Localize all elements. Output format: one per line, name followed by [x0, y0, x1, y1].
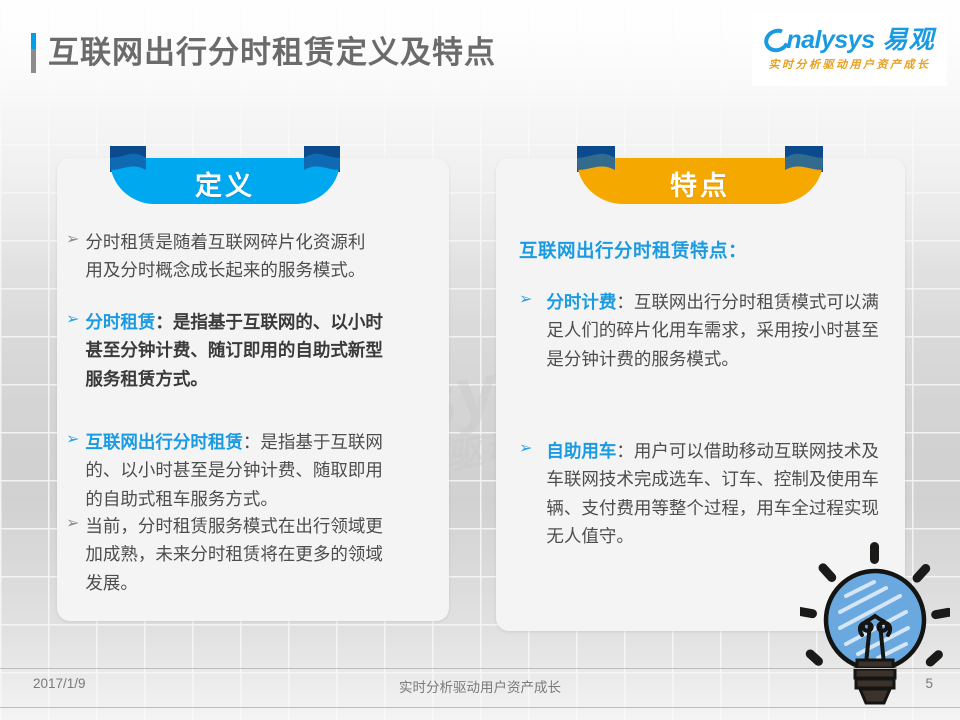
features-section-heading: 互联网出行分时租赁特点： — [519, 237, 747, 263]
features-banner-label: 特点 — [577, 146, 823, 212]
footer-page-number: 5 — [925, 676, 933, 691]
page-title: 互联网出行分时租赁定义及特点 — [48, 27, 496, 72]
definition-bullet-2-lead: 分时租赁 — [85, 312, 155, 332]
definition-bullet-4: ➢ 当前，分时租赁服务模式在出行领域更加成熟，未来分时租赁将在更多的领域发展。 — [66, 512, 396, 597]
features-bullet-2: ➢ 自助用车：用户可以借助移动互联网技术及车联网技术完成选车、订车、控制及使用车… — [519, 437, 889, 550]
footer-divider-bottom — [0, 707, 960, 708]
footer-divider-top — [0, 668, 960, 669]
definition-bullet-1-text: 分时租赁是随着互联网碎片化资源利用及分时概念成长起来的服务模式。 — [85, 228, 376, 285]
arrow-bullet-icon: ➢ — [66, 428, 79, 513]
arrow-bullet-icon: ➢ — [519, 437, 532, 550]
footer-tagline: 实时分析驱动用户资产成长 — [0, 676, 960, 696]
features-bullet-2-lead: 自助用车 — [546, 441, 616, 461]
arrow-bullet-icon: ➢ — [66, 512, 79, 597]
arrow-bullet-icon: ➢ — [66, 308, 79, 393]
definition-bullet-2: ➢ 分时租赁：是指基于互联网的、以小时甚至分钟计费、随订即用的自助式新型服务租赁… — [66, 308, 386, 393]
features-banner: 特点 — [577, 146, 823, 212]
arrow-bullet-icon: ➢ — [519, 288, 532, 373]
logo-brand-cn: 易观 — [883, 28, 935, 53]
definition-bullet-3-lead: 互联网出行分时租赁 — [85, 432, 243, 452]
arrow-bullet-icon: ➢ — [66, 228, 79, 285]
logo-tagline: 实时分析驱动用户资产成长 — [769, 56, 931, 72]
slide-canvas: nalysys易观 实时分析驱动用户资产成长 互联网出行分时租赁定义及特点 na… — [0, 0, 960, 720]
definition-bullet-3: ➢ 互联网出行分时租赁：是指基于互联网的、以小时甚至是分钟计费、随取即用的自助式… — [66, 428, 391, 513]
logo-wordmark: nalysys 易观 — [764, 28, 934, 53]
definition-bullet-1: ➢ 分时租赁是随着互联网碎片化资源利用及分时概念成长起来的服务模式。 — [66, 228, 376, 285]
definition-bullet-4-text: 当前，分时租赁服务模式在出行领域更加成熟，未来分时租赁将在更多的领域发展。 — [85, 512, 396, 597]
title-accent-bar — [31, 33, 36, 73]
features-bullet-1: ➢ 分时计费：互联网出行分时租赁模式可以满足人们的碎片化用车需求，采用按小时甚至… — [519, 288, 884, 373]
logo-brand-en: nalysys — [786, 28, 874, 53]
features-bullet-1-lead: 分时计费 — [546, 292, 616, 312]
brand-logo: nalysys 易观 实时分析驱动用户资产成长 — [752, 14, 947, 86]
